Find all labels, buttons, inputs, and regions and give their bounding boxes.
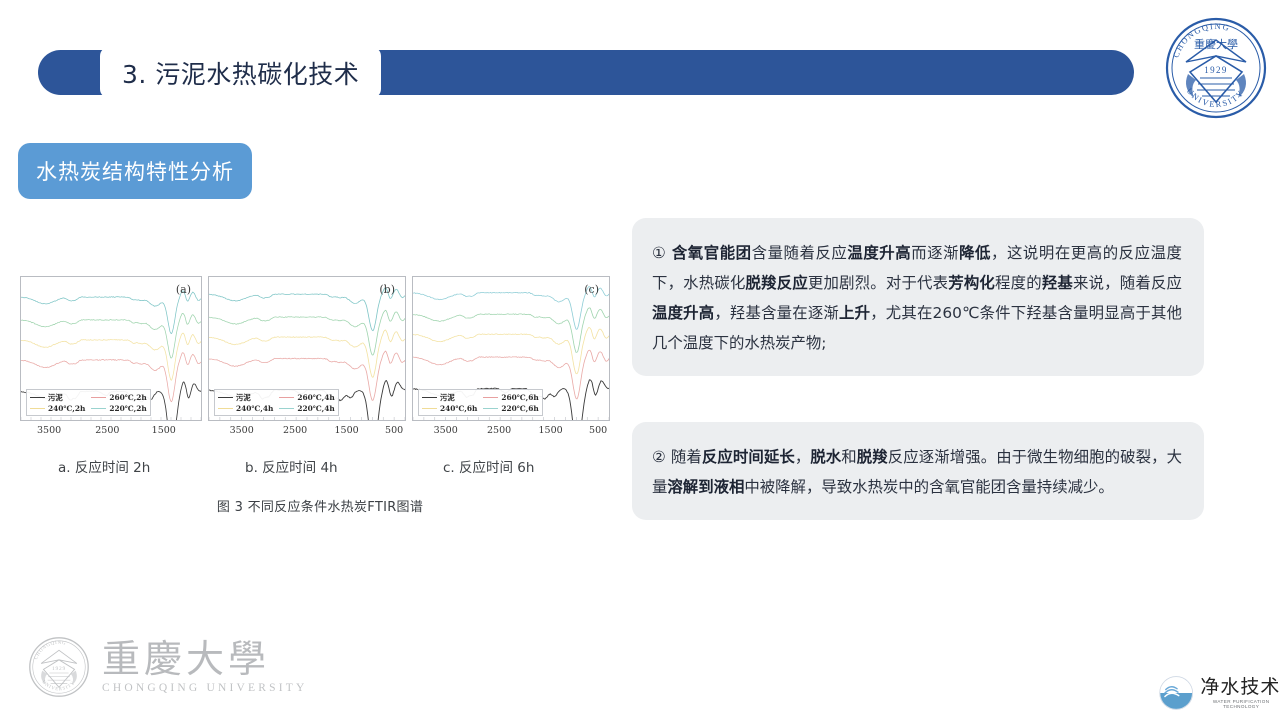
legend-item: 240℃,4h [218, 404, 273, 413]
page-title-text: 3. 污泥水热碳化技术 [122, 55, 359, 91]
slide-root: 3. 污泥水热碳化技术 重慶大學 1929 CHONGQING UNIVERSI… [0, 0, 1282, 722]
chart-b: (b) 污泥 260℃,4h 240℃,4h [208, 276, 406, 442]
spectrum-line [21, 333, 201, 380]
footer-university-brand: 1929 CHONGQING UNIVERSITY 重慶大學 CHONGQING… [28, 636, 308, 698]
chart-a-panel-label: (a) [176, 283, 191, 296]
legend-label: 220℃,4h [297, 404, 334, 413]
legend-item: 240℃,6h [422, 404, 477, 413]
section-subtitle-badge: 水热炭结构特性分析 [18, 143, 252, 199]
legend-swatch-icon [483, 397, 498, 398]
legend-item: 240℃,2h [30, 404, 85, 413]
chongqing-university-seal-icon: 重慶大學 1929 CHONGQING UNIVERSITY [1164, 16, 1268, 120]
x-tick-label: 1500 [335, 425, 359, 436]
chart-b-legend: 污泥 260℃,4h 240℃,4h 220℃,4h [214, 389, 339, 416]
water-drop-icon [1158, 672, 1194, 714]
legend-label: 220℃,2h [109, 404, 146, 413]
x-tick-label: 2500 [283, 425, 307, 436]
journal-logo: 净水技术 WATER PURIFICATION TECHNOLOGY [1158, 672, 1282, 714]
footer-wordmark-en: CHONGQING UNIVERSITY [102, 682, 308, 694]
legend-swatch-icon [91, 397, 106, 398]
legend-item: 220℃,2h [91, 404, 146, 413]
insight-panel-2-text: ② 随着反应时间延长，脱水和脱羧反应逐渐增强。由于微生物细胞的破裂，大量溶解到液… [652, 442, 1182, 502]
page-title: 3. 污泥水热碳化技术 [100, 47, 381, 98]
svg-text:重慶大學: 重慶大學 [1194, 37, 1238, 51]
legend-swatch-icon [218, 397, 233, 398]
charts-row: (a) 污泥 260℃,2h 240℃,2h [20, 276, 620, 442]
legend-label: 240℃,6h [440, 404, 477, 413]
legend-swatch-icon [30, 397, 45, 398]
legend-label: 260℃,4h [297, 393, 334, 402]
chart-a: (a) 污泥 260℃,2h 240℃,2h [20, 276, 202, 442]
figure-subcaptions: a. 反应时间 2h b. 反应时间 4h c. 反应时间 6h [20, 456, 620, 478]
x-tick-label: 3500 [230, 425, 254, 436]
legend-swatch-icon [422, 408, 437, 409]
insight-panel-2: ② 随着反应时间延长，脱水和脱羧反应逐渐增强。由于微生物细胞的破裂，大量溶解到液… [632, 422, 1204, 520]
insight-panel-1: ① 含氧官能团含量随着反应温度升高而逐渐降低，这说明在更高的反应温度下，水热碳化… [632, 218, 1204, 376]
legend-swatch-icon [279, 408, 294, 409]
chart-b-plot: (b) 污泥 260℃,4h 240℃,4h [208, 276, 406, 421]
x-tick-label: 1500 [539, 425, 563, 436]
chart-a-legend: 污泥 260℃,2h 240℃,2h 220℃,2h [26, 389, 151, 416]
x-tick-label: 3500 [37, 425, 61, 436]
legend-item: 220℃,4h [279, 404, 334, 413]
footer-seal-icon: 1929 CHONGQING UNIVERSITY [28, 636, 90, 698]
x-tick-label: 1500 [152, 425, 176, 436]
legend-swatch-icon [279, 397, 294, 398]
legend-swatch-icon [483, 408, 498, 409]
chart-a-plot: (a) 污泥 260℃,2h 240℃,2h [20, 276, 202, 421]
subcaption-b: b. 反应时间 4h [245, 456, 338, 476]
spectrum-line [21, 313, 201, 358]
spectrum-line [413, 308, 609, 353]
x-tick-label: 2500 [487, 425, 511, 436]
chart-b-panel-label: (b) [379, 283, 395, 296]
legend-label: 240℃,2h [48, 404, 85, 413]
chart-a-xaxis: 3500 2500 1500 [20, 422, 202, 442]
figure-block: (a) 污泥 260℃,2h 240℃,2h [20, 276, 620, 515]
journal-wordmark: 净水技术 WATER PURIFICATION TECHNOLOGY [1200, 678, 1282, 709]
chart-b-xaxis: 3500 2500 1500 500 [208, 422, 406, 442]
journal-wordmark-en: WATER PURIFICATION TECHNOLOGY [1200, 699, 1282, 709]
spectrum-line [209, 330, 405, 378]
legend-label: 260℃,6h [501, 393, 538, 402]
svg-text:1929: 1929 [52, 666, 66, 672]
spectrum-line [21, 291, 201, 334]
legend-item: 污泥 [218, 392, 273, 403]
chart-c: (c) 污泥 260℃,6h 240℃,6h [412, 276, 610, 442]
x-tick-label: 500 [385, 425, 403, 436]
section-subtitle-label: 水热炭结构特性分析 [36, 156, 234, 186]
chart-c-plot: (c) 污泥 260℃,6h 240℃,6h [412, 276, 610, 421]
chart-c-legend: 污泥 260℃,6h 240℃,6h 220℃,6h [418, 389, 543, 416]
svg-text:CHONGQING: CHONGQING [34, 641, 67, 661]
x-tick-label: 2500 [95, 425, 119, 436]
journal-wordmark-cn: 净水技术 [1200, 678, 1282, 697]
footer-wordmark: 重慶大學 CHONGQING UNIVERSITY [102, 640, 308, 694]
footer-wordmark-cn: 重慶大學 [102, 640, 308, 678]
subcaption-a: a. 反应时间 2h [58, 456, 150, 476]
legend-swatch-icon [91, 408, 106, 409]
x-tick-label: 3500 [434, 425, 458, 436]
insight-panel-1-text: ① 含氧官能团含量随着反应温度升高而逐渐降低，这说明在更高的反应温度下，水热碳化… [652, 238, 1182, 358]
svg-text:1929: 1929 [1204, 65, 1228, 75]
legend-label: 260℃,2h [109, 393, 146, 402]
figure-caption: 图 3 不同反应条件水热炭FTIR图谱 [20, 496, 620, 515]
subcaption-c: c. 反应时间 6h [443, 456, 534, 476]
legend-item: 污泥 [30, 392, 85, 403]
legend-swatch-icon [218, 408, 233, 409]
legend-item: 260℃,4h [279, 392, 334, 403]
legend-swatch-icon [30, 408, 45, 409]
spectrum-line [413, 287, 609, 330]
legend-item: 污泥 [422, 392, 477, 403]
legend-item: 260℃,6h [483, 392, 538, 403]
spectrum-line [209, 310, 405, 355]
legend-label: 污泥 [48, 392, 63, 403]
legend-item: 260℃,2h [91, 392, 146, 403]
legend-label: 240℃,4h [236, 404, 273, 413]
legend-swatch-icon [422, 397, 437, 398]
spectrum-line [413, 328, 609, 374]
x-tick-label: 500 [589, 425, 607, 436]
legend-item: 220℃,6h [483, 404, 538, 413]
legend-label: 220℃,6h [501, 404, 538, 413]
chart-c-panel-label: (c) [584, 283, 599, 296]
legend-label: 污泥 [236, 392, 251, 403]
legend-label: 污泥 [440, 392, 455, 403]
chart-c-xaxis: 3500 2500 1500 500 [412, 422, 610, 442]
